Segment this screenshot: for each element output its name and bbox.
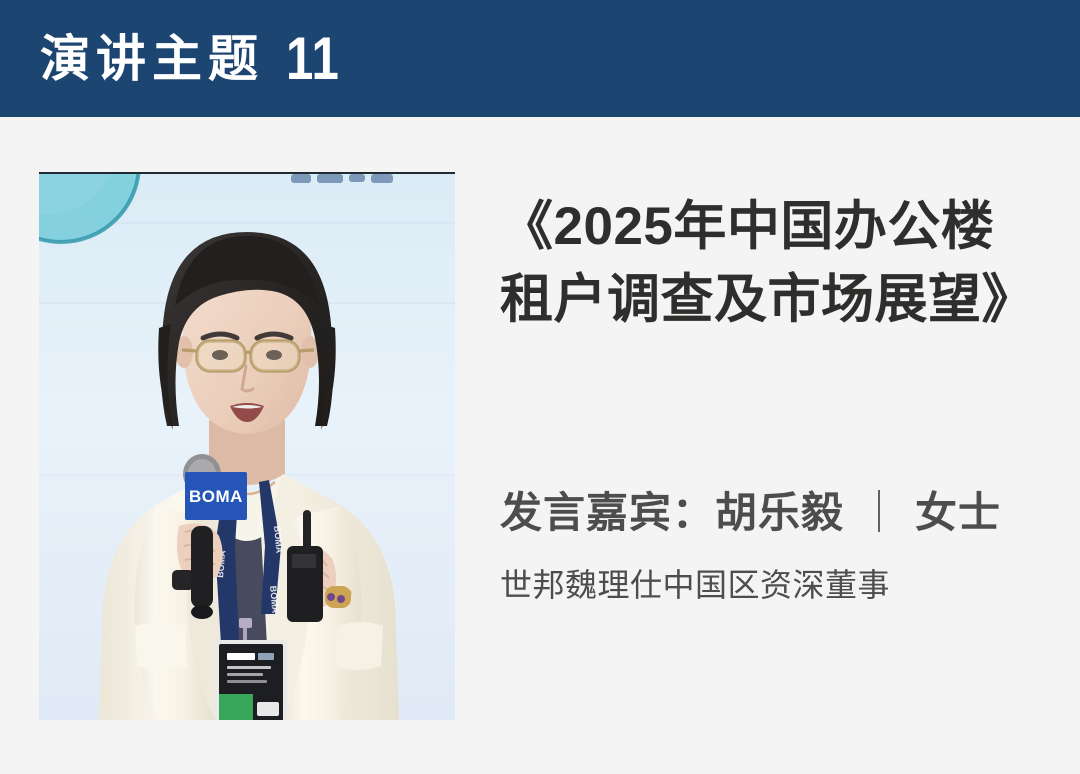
speaker-name: 胡乐毅	[715, 489, 844, 536]
speaker-photo-illustration: BOMA BOMA BOMA BOMA	[39, 174, 455, 720]
content-area: BOMA BOMA BOMA BOMA	[0, 117, 1080, 774]
header-banner: 演讲主题 11	[0, 0, 1080, 117]
speaker-honorific: 女士	[915, 489, 1001, 536]
speaker-prefix: 发言嘉宾：	[500, 489, 715, 536]
speaker-line: 发言嘉宾：胡乐毅｜女士	[500, 488, 1001, 538]
topic-number-badge: 11	[286, 29, 340, 89]
speaker-photo: BOMA BOMA BOMA BOMA	[39, 172, 455, 720]
page-title: 演讲主题	[40, 34, 264, 84]
talk-info-column: 《2025年中国办公楼租户调查及市场展望》 发言嘉宾：胡乐毅｜女士 世邦魏理仕中…	[500, 117, 1045, 774]
speaker-separator: ｜	[858, 488, 901, 538]
speaker-affiliation: 世邦魏理仕中国区资深董事	[500, 565, 890, 607]
talk-title: 《2025年中国办公楼租户调查及市场展望》	[500, 190, 1045, 336]
